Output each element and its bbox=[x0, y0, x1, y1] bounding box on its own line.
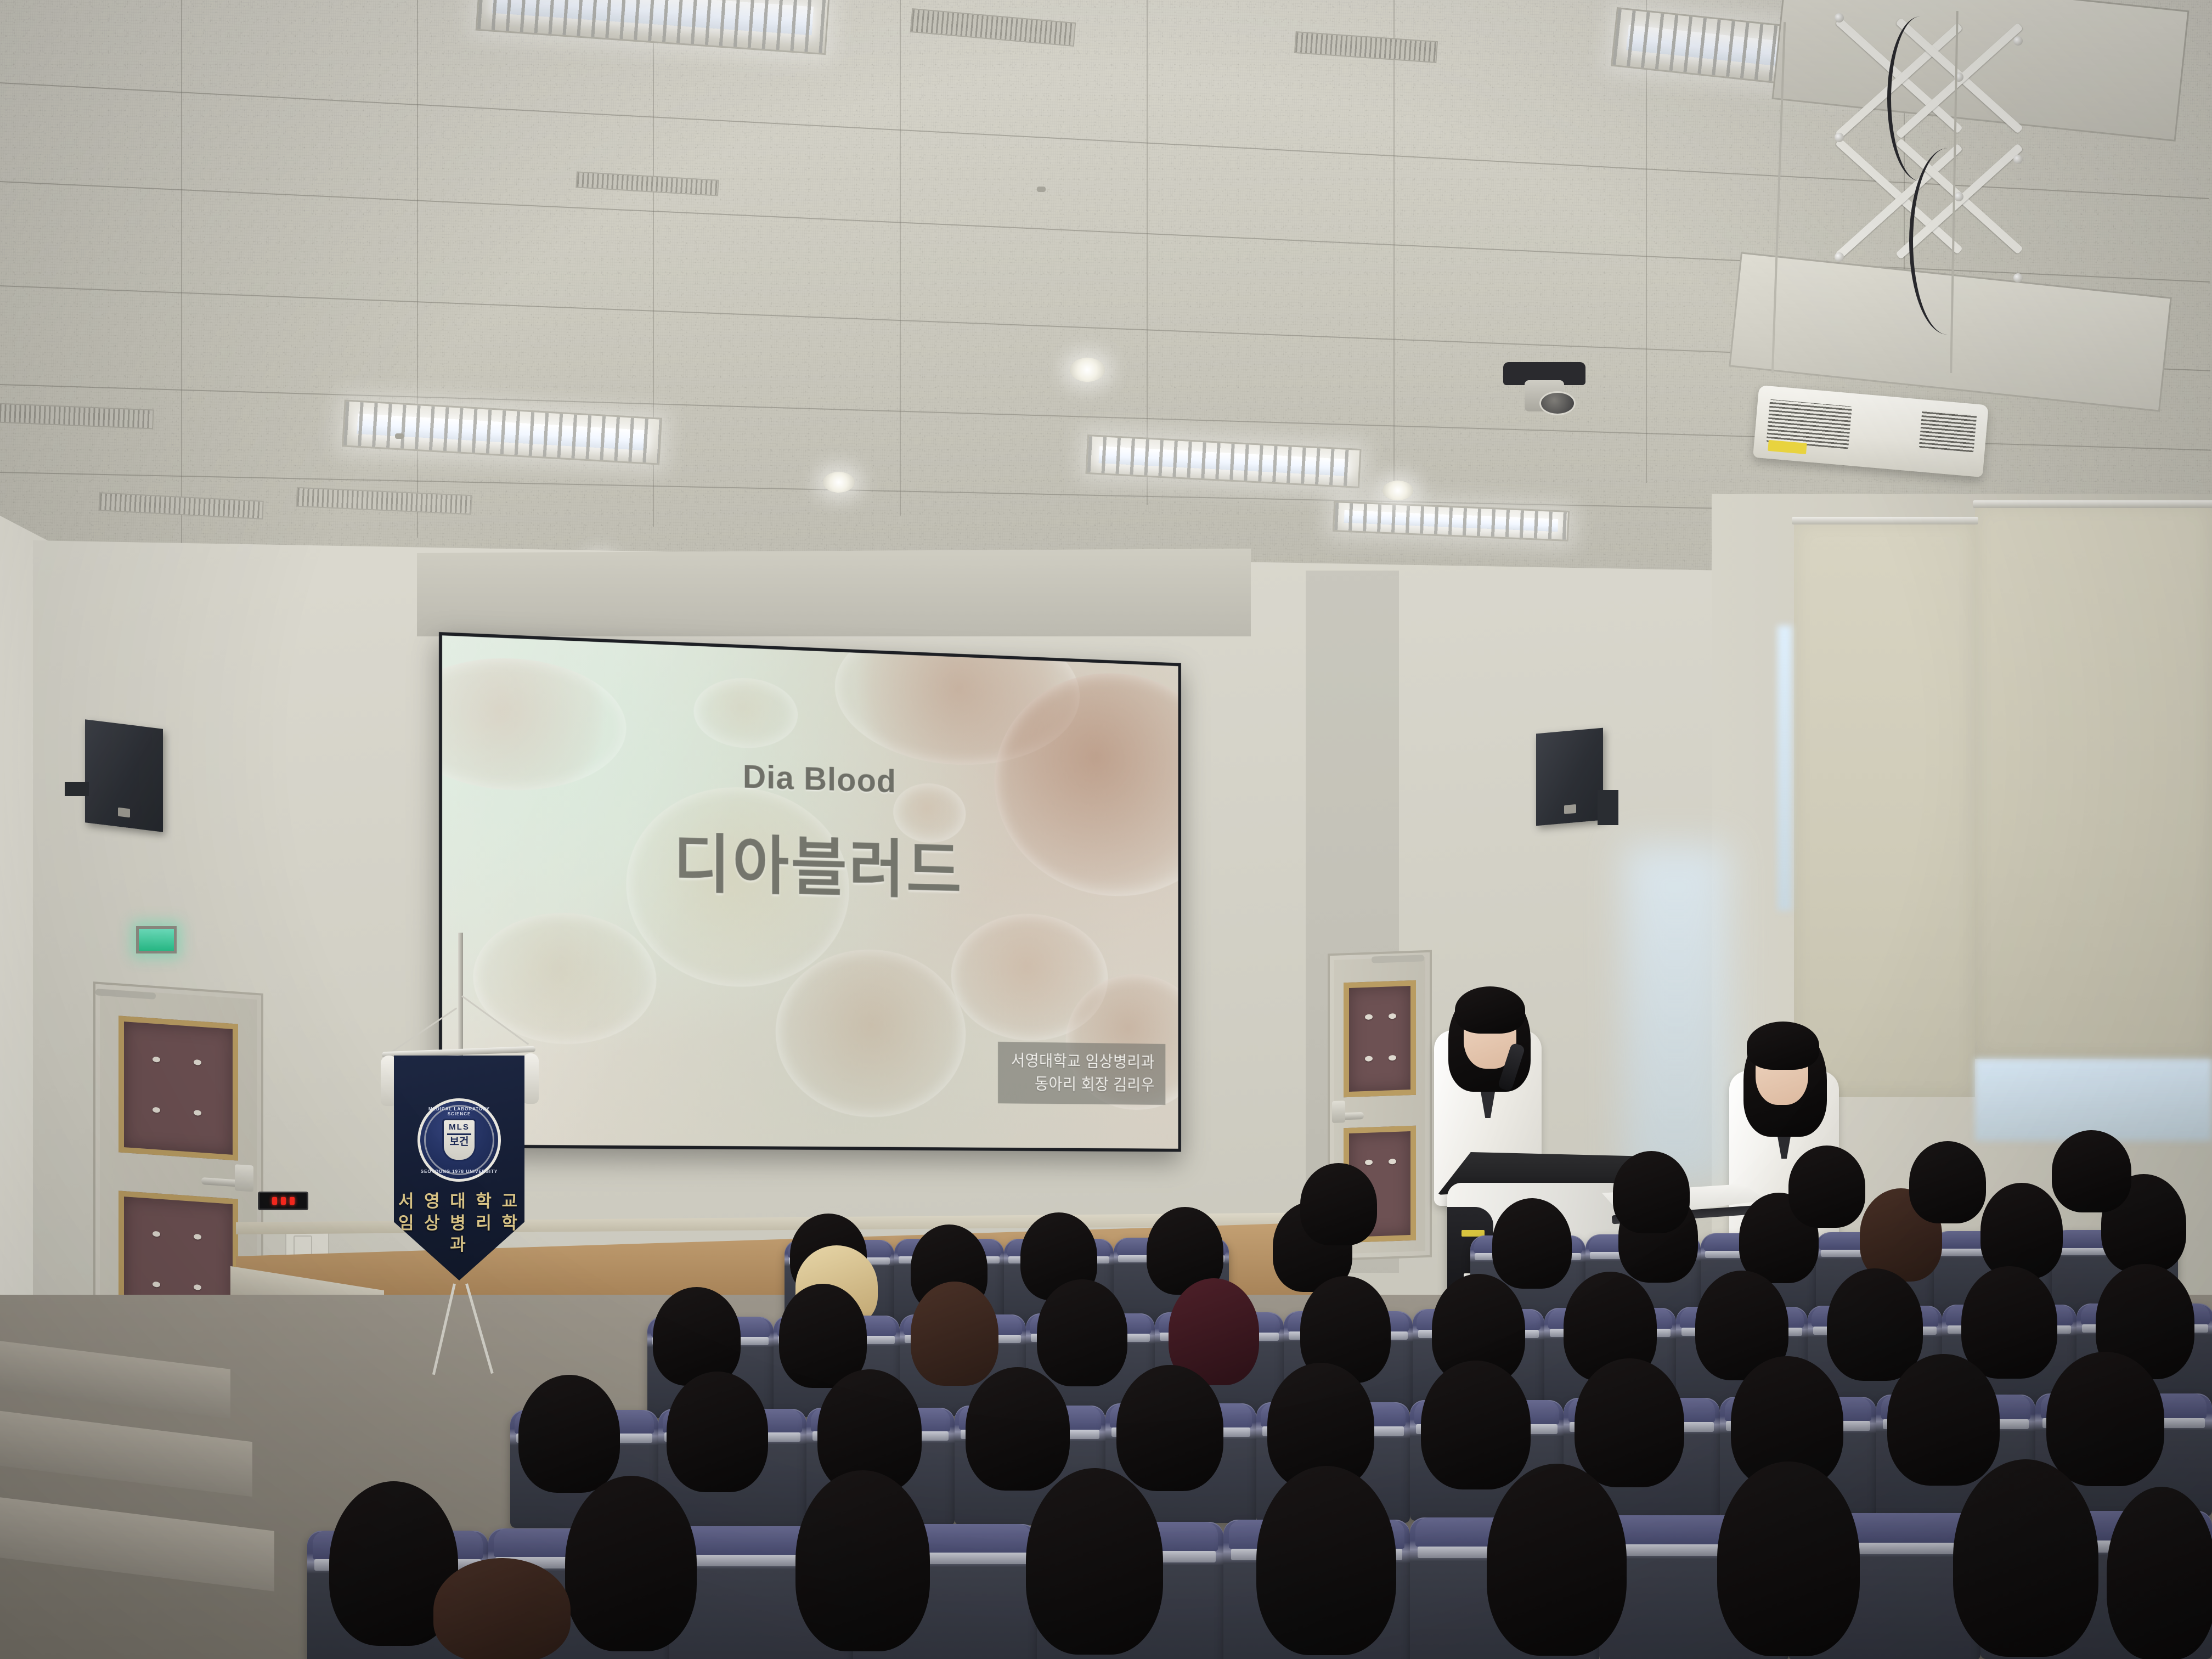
stage-light-glow bbox=[1624, 845, 1728, 1185]
audience-head bbox=[1300, 1163, 1377, 1245]
audience-head bbox=[1026, 1468, 1163, 1655]
presenter-primary-hair-front bbox=[1455, 986, 1525, 1034]
audience-head bbox=[911, 1282, 998, 1386]
screen-soffit bbox=[417, 549, 1251, 636]
exit-sign-icon bbox=[136, 926, 177, 953]
door-lock-plate bbox=[235, 1165, 253, 1192]
speaker-bracket-right bbox=[1598, 790, 1618, 825]
wall-speaker-left bbox=[85, 719, 163, 832]
audience-head bbox=[1256, 1466, 1396, 1655]
audience-head bbox=[1492, 1198, 1572, 1289]
audience-head bbox=[1980, 1183, 2063, 1279]
banner-line-1: 서 영 대 학 교 bbox=[394, 1190, 524, 1212]
window-light-leak-2 bbox=[1975, 1059, 2212, 1141]
audience-head bbox=[1037, 1279, 1127, 1386]
blood-cell bbox=[626, 784, 849, 989]
audience-head bbox=[565, 1476, 697, 1651]
ceiling-downlight-2 bbox=[823, 472, 855, 493]
window-blind-center[interactable] bbox=[1794, 521, 1975, 1097]
wall-speaker-right bbox=[1536, 728, 1603, 826]
projector-cable-2 bbox=[1909, 148, 1986, 335]
door-lock-plate bbox=[1332, 1101, 1345, 1123]
emblem-ring-top-text: MEDICAL LABORATORY SCIENCE bbox=[420, 1107, 498, 1116]
banner-text-block: 서 영 대 학 교 임 상 병 리 학 과 bbox=[394, 1190, 524, 1256]
department-emblem-icon: MEDICAL LABORATORY SCIENCE MLS 보건 SEOYOU… bbox=[417, 1098, 501, 1182]
audience-head bbox=[653, 1287, 741, 1386]
led-indicator-panel bbox=[258, 1192, 308, 1210]
audience-head bbox=[1909, 1141, 1986, 1223]
audience-head bbox=[1827, 1268, 1923, 1381]
blind-rail-right[interactable] bbox=[1973, 500, 2212, 508]
banner-fabric: MEDICAL LABORATORY SCIENCE MLS 보건 SEOYOU… bbox=[394, 1056, 524, 1280]
blood-cell bbox=[776, 947, 966, 1118]
audience-head bbox=[1421, 1361, 1531, 1489]
department-banner: MEDICAL LABORATORY SCIENCE MLS 보건 SEOYOU… bbox=[379, 998, 543, 1350]
banner-line-2: 임 상 병 리 학 과 bbox=[394, 1212, 524, 1256]
sprinkler-head bbox=[395, 433, 404, 439]
door-panel-upper bbox=[119, 1016, 238, 1161]
audience-head bbox=[1953, 1459, 2098, 1657]
audience-head bbox=[2052, 1130, 2131, 1212]
sprinkler-head bbox=[1037, 187, 1046, 192]
audience-head bbox=[1887, 1354, 2000, 1486]
window-light-leak-1 bbox=[1778, 625, 1792, 911]
blood-cell bbox=[893, 782, 966, 843]
blood-cell bbox=[442, 654, 626, 794]
banner-tassel-right bbox=[522, 1053, 539, 1104]
window-blind-right[interactable] bbox=[1975, 505, 2212, 1059]
audience-head bbox=[2046, 1352, 2164, 1486]
audience-head bbox=[966, 1367, 1070, 1491]
projection-screen: Dia Blood 디아블러드 서영대학교 임상병리과 동아리 회장 김리우 bbox=[439, 632, 1181, 1152]
presenter-secondary-hair-front bbox=[1747, 1022, 1819, 1070]
banner-cord-right bbox=[461, 995, 529, 1045]
audience-head bbox=[795, 1470, 930, 1651]
audience-head bbox=[1961, 1266, 2057, 1379]
emblem-ring-bottom-text: SEOYOUNG 1978 UNIVERSITY bbox=[420, 1169, 498, 1174]
audience-head bbox=[1717, 1462, 1860, 1656]
blind-rail-center[interactable] bbox=[1792, 517, 1978, 524]
blood-cell bbox=[694, 676, 798, 749]
speaker-bracket-left bbox=[65, 782, 89, 796]
audience-head bbox=[1575, 1358, 1684, 1487]
audience-head bbox=[1487, 1464, 1627, 1656]
ceiling-downlight-1 bbox=[1070, 358, 1105, 382]
audience-head bbox=[1116, 1365, 1223, 1491]
slide-credit-line-2: 동아리 회장 김리우 bbox=[1011, 1072, 1155, 1096]
slide-credit-line-1: 서영대학교 임상병리과 bbox=[1011, 1049, 1155, 1074]
audience-head bbox=[667, 1372, 768, 1492]
banner-cord-left bbox=[388, 1007, 457, 1054]
ceiling-downlight-3 bbox=[1383, 481, 1413, 500]
audience-head bbox=[518, 1375, 620, 1493]
audience-head bbox=[1788, 1145, 1865, 1228]
door-panel-upper bbox=[1344, 980, 1415, 1097]
lecture-hall-photo: Dia Blood 디아블러드 서영대학교 임상병리과 동아리 회장 김리우 bbox=[0, 0, 2212, 1659]
slide-surface: Dia Blood 디아블러드 서영대학교 임상병리과 동아리 회장 김리우 bbox=[442, 635, 1178, 1149]
audience-head bbox=[1613, 1151, 1690, 1233]
slide-credit-box: 서영대학교 임상병리과 동아리 회장 김리우 bbox=[998, 1042, 1165, 1105]
audience-head bbox=[433, 1558, 571, 1659]
audience-head bbox=[2107, 1487, 2212, 1659]
ceiling-camera bbox=[1503, 362, 1585, 422]
